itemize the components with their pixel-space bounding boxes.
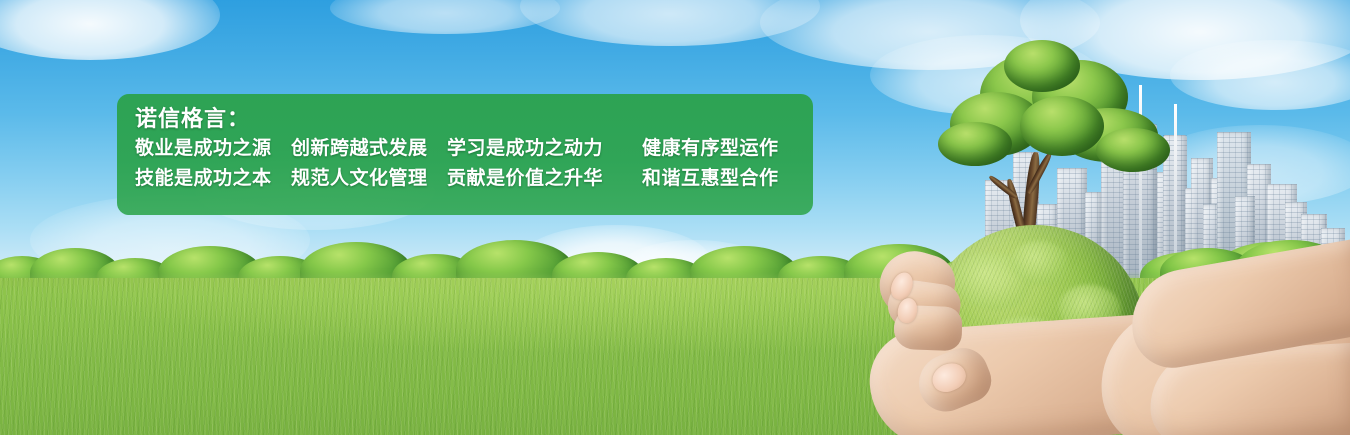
eco-motto-banner: 诺信格言： 敬业是成功之源 创新跨越式发展 学习是成功之动力 健康有序型运作 技… [0, 0, 1350, 435]
motto-line-1: 敬业是成功之源 创新跨越式发展 学习是成功之动力 健康有序型运作 [135, 133, 813, 163]
motto-line-2: 技能是成功之本 规范人文化管理 贡献是价值之升华 和谐互惠型合作 [135, 163, 813, 193]
motto-title: 诺信格言： [135, 107, 813, 133]
motto-panel: 诺信格言： 敬业是成功之源 创新跨越式发展 学习是成功之动力 健康有序型运作 技… [117, 94, 813, 215]
